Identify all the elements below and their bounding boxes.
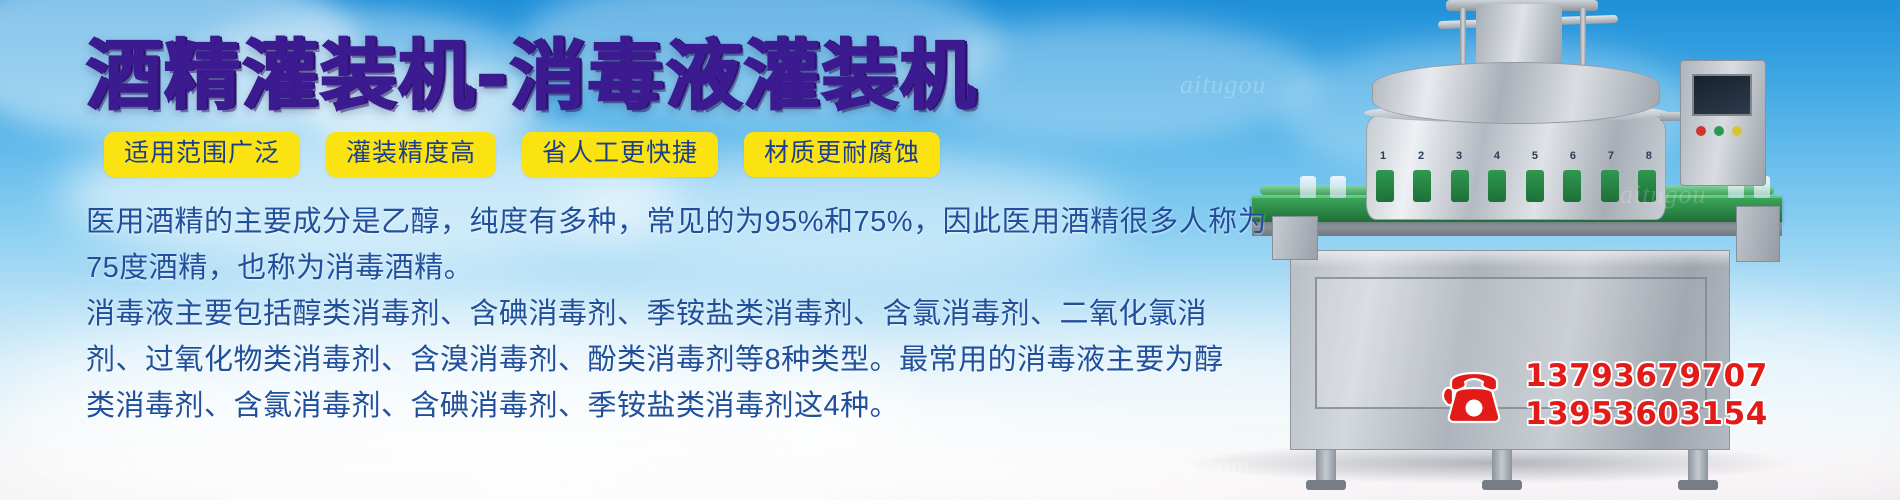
phone-number-primary[interactable]: 13793679707: [1525, 358, 1768, 394]
machine-side-box: [1272, 216, 1318, 260]
nozzle-number: 6: [1570, 150, 1576, 162]
machine-leg: [1688, 450, 1708, 482]
nozzle-number-strip: 1 2 3 4 5 6 7 8: [1380, 150, 1652, 162]
description-line: 剂、过氧化物类消毒剂、含溴消毒剂、酚类消毒剂等8种类型。最常用的消毒液主要为醇: [86, 337, 1160, 383]
promo-banner: 1 2 3 4 5 6 7 8 酒精灌装机-消毒液灌装机: [0, 0, 1900, 500]
feature-tag-filling-accuracy[interactable]: 灌装精度高: [326, 132, 496, 177]
filling-nozzle: [1638, 170, 1656, 202]
filling-nozzle: [1413, 170, 1431, 202]
filling-nozzle: [1376, 170, 1394, 202]
phone-number-secondary[interactable]: 13953603154: [1525, 396, 1768, 432]
filling-nozzle: [1451, 170, 1469, 202]
banner-text-column: 酒精灌装机-消毒液灌装机 适用范围广泛 灌装精度高 省人工更快捷 材质更耐腐蚀 …: [0, 0, 1160, 500]
feature-tag-list: 适用范围广泛 灌装精度高 省人工更快捷 材质更耐腐蚀: [104, 132, 1160, 177]
control-stop-button: [1696, 126, 1706, 136]
filling-nozzle: [1601, 170, 1619, 202]
feature-tag-applicable-range[interactable]: 适用范围广泛: [104, 132, 300, 177]
description-line: 消毒液主要包括醇类消毒剂、含碘消毒剂、季铵盐类消毒剂、含氯消毒剂、二氧化氯消: [86, 291, 1160, 337]
filling-nozzle: [1526, 170, 1544, 202]
machine-leg: [1492, 450, 1512, 482]
machine-gantry-head: [1476, 4, 1562, 68]
machine-foot-pad: [1678, 480, 1718, 490]
control-mode-button: [1732, 126, 1742, 136]
contact-phone-block[interactable]: 13793679707 13953603154: [1437, 358, 1768, 432]
feature-tag-corrosion-resistant[interactable]: 材质更耐腐蚀: [744, 132, 940, 177]
page-title: 酒精灌装机-消毒液灌装机: [86, 38, 1160, 114]
telephone-icon: [1437, 364, 1511, 426]
machine-leg: [1316, 450, 1336, 482]
phone-number-list: 13793679707 13953603154: [1525, 358, 1768, 432]
filling-nozzle: [1488, 170, 1506, 202]
control-start-button: [1714, 126, 1724, 136]
nozzle-number: 8: [1646, 150, 1652, 162]
machine-side-box: [1736, 206, 1780, 262]
feature-tag-labor-saving[interactable]: 省人工更快捷: [522, 132, 718, 177]
description-paragraphs: 医用酒精的主要成分是乙醇，纯度有多种，常见的为95%和75%，因此医用酒精很多人…: [86, 199, 1160, 429]
conveyor-frame: [1252, 222, 1782, 236]
nozzle-number: 7: [1608, 150, 1614, 162]
nozzle-number: 5: [1532, 150, 1538, 162]
description-line: 医用酒精的主要成分是乙醇，纯度有多种，常见的为95%和75%，因此医用酒精很多人…: [86, 199, 1160, 245]
machine-turret-dome: [1372, 62, 1660, 124]
machine-foot-pad: [1306, 480, 1346, 490]
nozzle-number: 3: [1456, 150, 1462, 162]
bottle-on-conveyor: [1330, 176, 1346, 198]
description-line: 75度酒精，也称为消毒酒精。: [86, 245, 1160, 291]
nozzle-number: 2: [1418, 150, 1424, 162]
bottle-on-conveyor: [1300, 176, 1316, 198]
nozzle-number: 4: [1494, 150, 1500, 162]
filling-nozzle: [1563, 170, 1581, 202]
control-panel-screen: [1692, 74, 1752, 116]
filling-nozzle-row: [1376, 170, 1656, 204]
nozzle-number: 1: [1380, 150, 1386, 162]
machine-foot-pad: [1482, 480, 1522, 490]
description-line: 类消毒剂、含氯消毒剂、含碘消毒剂、季铵盐类消毒剂这4种。: [86, 383, 1160, 429]
machine-rotary-turret: [1366, 116, 1666, 220]
